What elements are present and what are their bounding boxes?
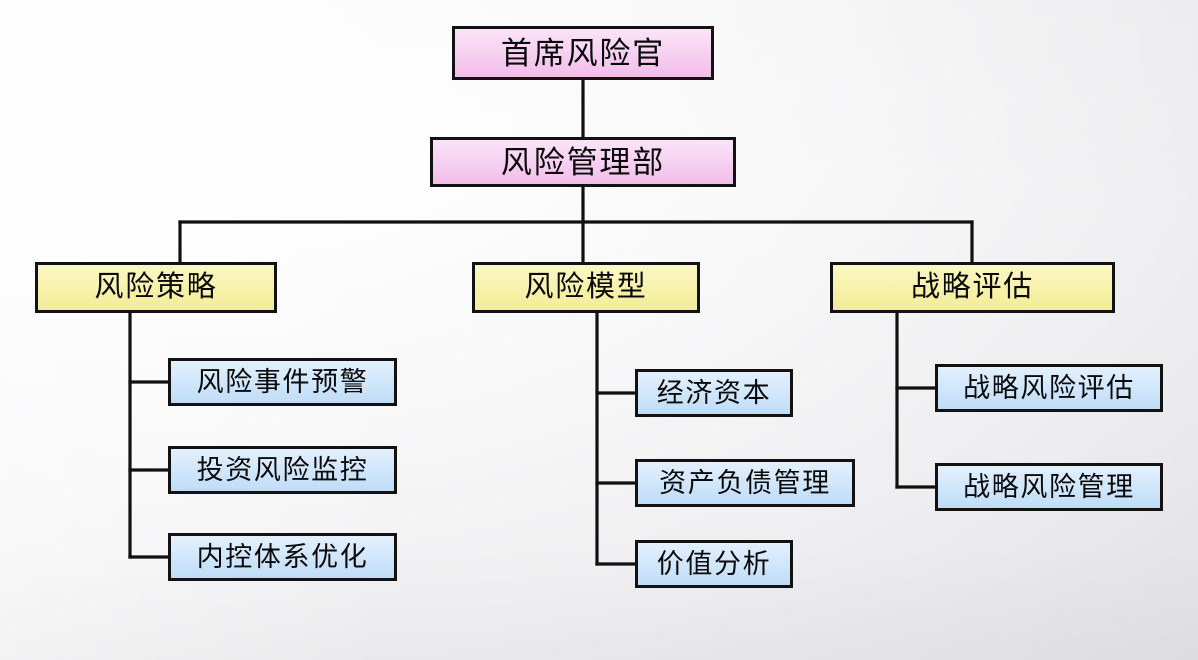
node-internal-control-optimization[interactable]: 内控体系优化 <box>168 533 397 581</box>
node-value-analysis[interactable]: 价值分析 <box>635 540 793 588</box>
node-risk-model[interactable]: 风险模型 <box>472 262 700 313</box>
node-label: 资产负债管理 <box>659 470 831 497</box>
node-economic-capital[interactable]: 经济资本 <box>635 369 793 417</box>
node-label: 内控体系优化 <box>197 544 369 571</box>
node-label: 投资风险监控 <box>197 457 369 484</box>
node-asset-liability-management[interactable]: 资产负债管理 <box>635 459 855 507</box>
node-risk-event-warning[interactable]: 风险事件预警 <box>168 358 397 406</box>
node-risk-management-department[interactable]: 风险管理部 <box>430 137 736 187</box>
node-risk-strategy[interactable]: 风险策略 <box>35 262 277 313</box>
node-label: 价值分析 <box>657 551 771 578</box>
node-label: 风险策略 <box>95 273 218 302</box>
node-label: 经济资本 <box>657 380 771 407</box>
node-label: 首席风险官 <box>501 38 665 69</box>
node-label: 风险事件预警 <box>197 369 369 396</box>
org-chart-canvas: 首席风险官 风险管理部 风险策略 风险模型 战略评估 风险事件预警 投资风险监控… <box>0 0 1198 660</box>
node-strategic-risk-management[interactable]: 战略风险管理 <box>935 463 1163 511</box>
node-strategic-assessment[interactable]: 战略评估 <box>830 262 1115 313</box>
node-label: 战略风险管理 <box>963 474 1135 501</box>
node-label: 风险管理部 <box>501 147 665 178</box>
node-label: 战略评估 <box>911 273 1034 302</box>
node-label: 风险模型 <box>525 273 648 302</box>
node-label: 战略风险评估 <box>963 375 1135 402</box>
node-investment-risk-monitoring[interactable]: 投资风险监控 <box>168 446 397 494</box>
node-strategic-risk-assessment[interactable]: 战略风险评估 <box>935 364 1163 412</box>
node-chief-risk-officer[interactable]: 首席风险官 <box>452 26 714 80</box>
